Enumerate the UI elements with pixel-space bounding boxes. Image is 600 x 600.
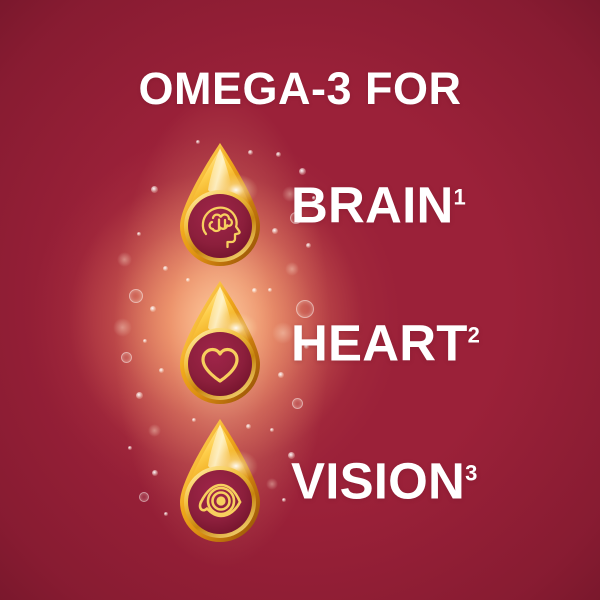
benefit-label-heart: HEART2 <box>291 318 480 369</box>
omega3-benefits-graphic: OMEGA-3 FOR <box>0 0 600 600</box>
eye-pupil <box>216 496 225 505</box>
benefit-label-text: BRAIN <box>291 177 454 234</box>
benefit-label-brain: BRAIN1 <box>291 180 466 231</box>
benefit-row-heart: HEART2 <box>0 278 600 408</box>
oil-drop-heart <box>172 278 268 408</box>
oil-drop-brain <box>172 140 268 270</box>
droplet-disc <box>188 332 252 396</box>
benefit-row-brain: BRAIN1 <box>0 140 600 270</box>
benefit-label-text: HEART <box>291 315 468 372</box>
benefit-footnote-marker: 3 <box>465 461 477 486</box>
page-title: OMEGA-3 FOR <box>0 66 600 111</box>
benefit-footnote-marker: 2 <box>468 323 480 348</box>
benefit-row-vision: VISION3 <box>0 416 600 546</box>
benefit-label-text: VISION <box>291 453 465 510</box>
oil-drop-vision <box>172 416 268 546</box>
benefit-footnote-marker: 1 <box>454 185 466 210</box>
benefit-label-vision: VISION3 <box>291 456 477 507</box>
